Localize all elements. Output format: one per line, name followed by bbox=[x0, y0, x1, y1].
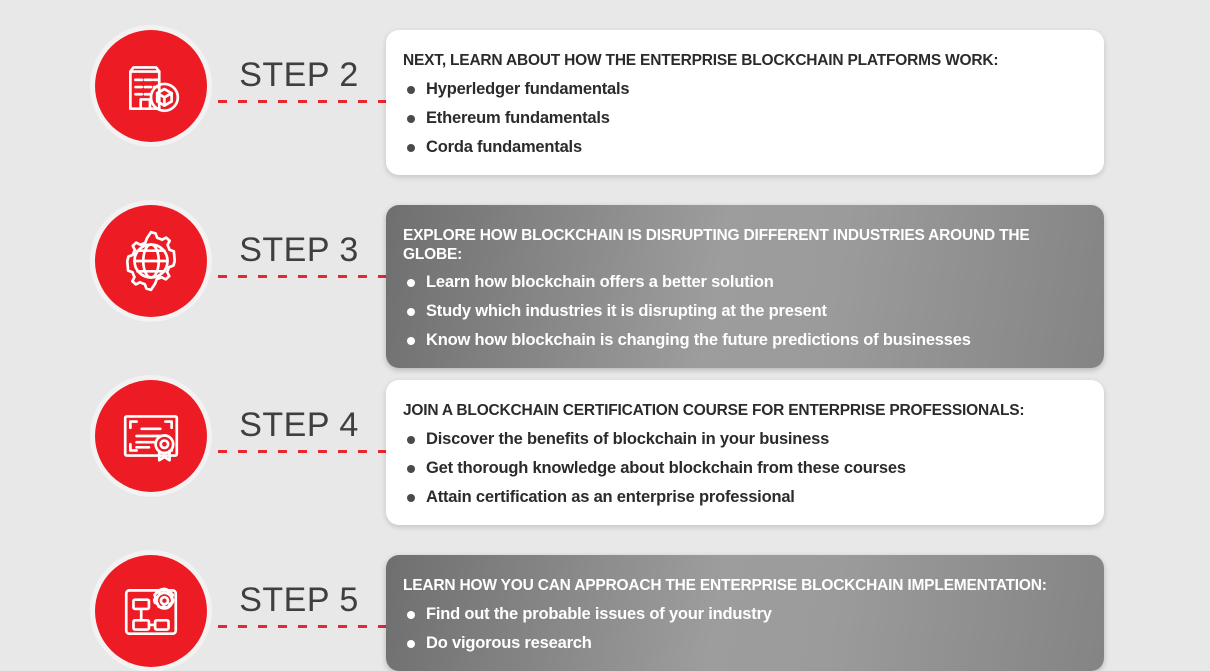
bullet-item: Ethereum fundamentals bbox=[403, 109, 1080, 128]
certificate-award-icon bbox=[118, 403, 184, 469]
dashed-connector bbox=[218, 275, 386, 278]
globe-gear-icon bbox=[118, 228, 184, 294]
card-heading: NEXT, LEARN ABOUT HOW THE ENTERPRISE BLO… bbox=[403, 52, 1080, 71]
bullet-item: Hyperledger fundamentals bbox=[403, 80, 1080, 99]
step-label: STEP 4 bbox=[214, 406, 384, 445]
bullet-item: Attain certification as an enterprise pr… bbox=[403, 488, 1080, 507]
bullet-item: Know how blockchain is changing the futu… bbox=[403, 331, 1080, 350]
step-label-group: STEP 4 bbox=[214, 380, 384, 492]
card-bullet-list: Find out the probable issues of your ind… bbox=[403, 605, 1080, 653]
step-label-group: STEP 5 bbox=[214, 555, 384, 667]
bullet-item: Study which industries it is disrupting … bbox=[403, 302, 1080, 321]
bullet-item: Find out the probable issues of your ind… bbox=[403, 605, 1080, 624]
flowchart-gear-icon bbox=[118, 578, 184, 644]
card-bullet-list: Learn how blockchain offers a better sol… bbox=[403, 273, 1080, 350]
step-label: STEP 3 bbox=[214, 231, 384, 270]
card-heading: LEARN HOW YOU CAN APPROACH THE ENTERPRIS… bbox=[403, 577, 1080, 596]
step-label-group: STEP 2 bbox=[214, 30, 384, 142]
bullet-item: Do vigorous research bbox=[403, 634, 1080, 653]
step-icon-badge bbox=[95, 380, 207, 492]
infographic-canvas: STEP 2 NEXT, LEARN ABOUT HOW THE ENTERPR… bbox=[0, 0, 1210, 640]
step-card: EXPLORE HOW BLOCKCHAIN IS DISRUPTING DIF… bbox=[386, 205, 1104, 368]
bullet-item: Corda fundamentals bbox=[403, 138, 1080, 157]
card-bullet-list: Discover the benefits of blockchain in y… bbox=[403, 430, 1080, 507]
step-label-group: STEP 3 bbox=[214, 205, 384, 317]
card-heading: EXPLORE HOW BLOCKCHAIN IS DISRUPTING DIF… bbox=[403, 227, 1080, 264]
building-cube-icon bbox=[118, 53, 184, 119]
dashed-connector bbox=[218, 450, 386, 453]
card-bullet-list: Hyperledger fundamentals Ethereum fundam… bbox=[403, 80, 1080, 157]
step-label: STEP 5 bbox=[214, 581, 384, 620]
step-label: STEP 2 bbox=[214, 56, 384, 95]
step-icon-badge bbox=[95, 30, 207, 142]
card-heading: JOIN A BLOCKCHAIN CERTIFICATION COURSE F… bbox=[403, 402, 1080, 421]
step-card: LEARN HOW YOU CAN APPROACH THE ENTERPRIS… bbox=[386, 555, 1104, 671]
dashed-connector bbox=[218, 100, 386, 103]
bullet-item: Learn how blockchain offers a better sol… bbox=[403, 273, 1080, 292]
step-icon-badge bbox=[95, 555, 207, 667]
step-icon-badge bbox=[95, 205, 207, 317]
bullet-item: Get thorough knowledge about blockchain … bbox=[403, 459, 1080, 478]
step-card: JOIN A BLOCKCHAIN CERTIFICATION COURSE F… bbox=[386, 380, 1104, 525]
dashed-connector bbox=[218, 625, 386, 628]
bullet-item: Discover the benefits of blockchain in y… bbox=[403, 430, 1080, 449]
step-card: NEXT, LEARN ABOUT HOW THE ENTERPRISE BLO… bbox=[386, 30, 1104, 175]
